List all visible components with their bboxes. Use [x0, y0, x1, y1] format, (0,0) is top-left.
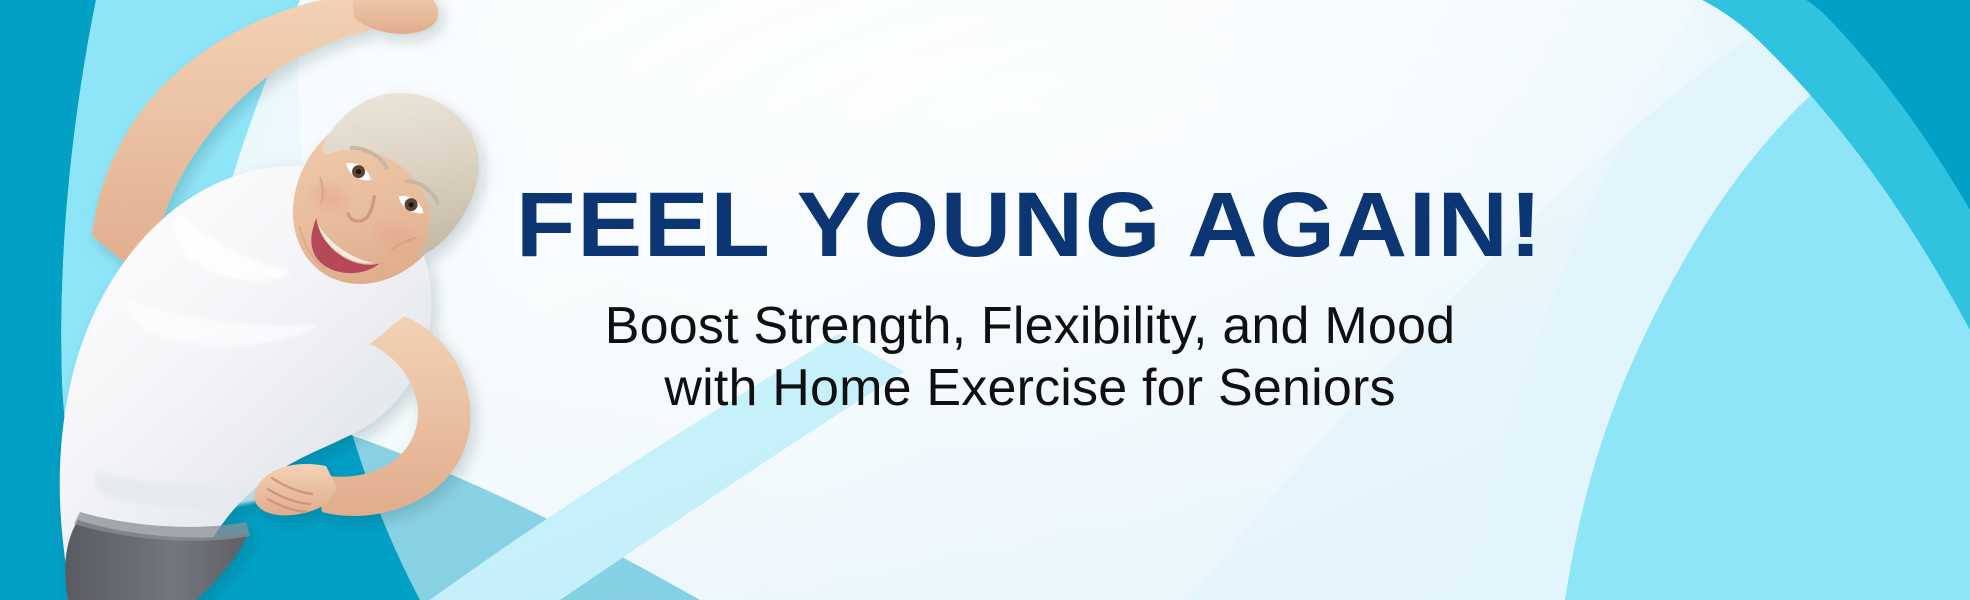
promo-banner: FEEL YOUNG AGAIN! Boost Strength, Flexib… — [0, 0, 1970, 600]
page-title: FEEL YOUNG AGAIN! — [516, 181, 1544, 270]
banner-subtitle: Boost Strength, Flexibility, and Mood wi… — [605, 296, 1455, 419]
subtitle-line-1: Boost Strength, Flexibility, and Mood — [605, 296, 1455, 357]
subtitle-line-2: with Home Exercise for Seniors — [605, 358, 1455, 419]
banner-copy: FEEL YOUNG AGAIN! Boost Strength, Flexib… — [370, 0, 1690, 600]
